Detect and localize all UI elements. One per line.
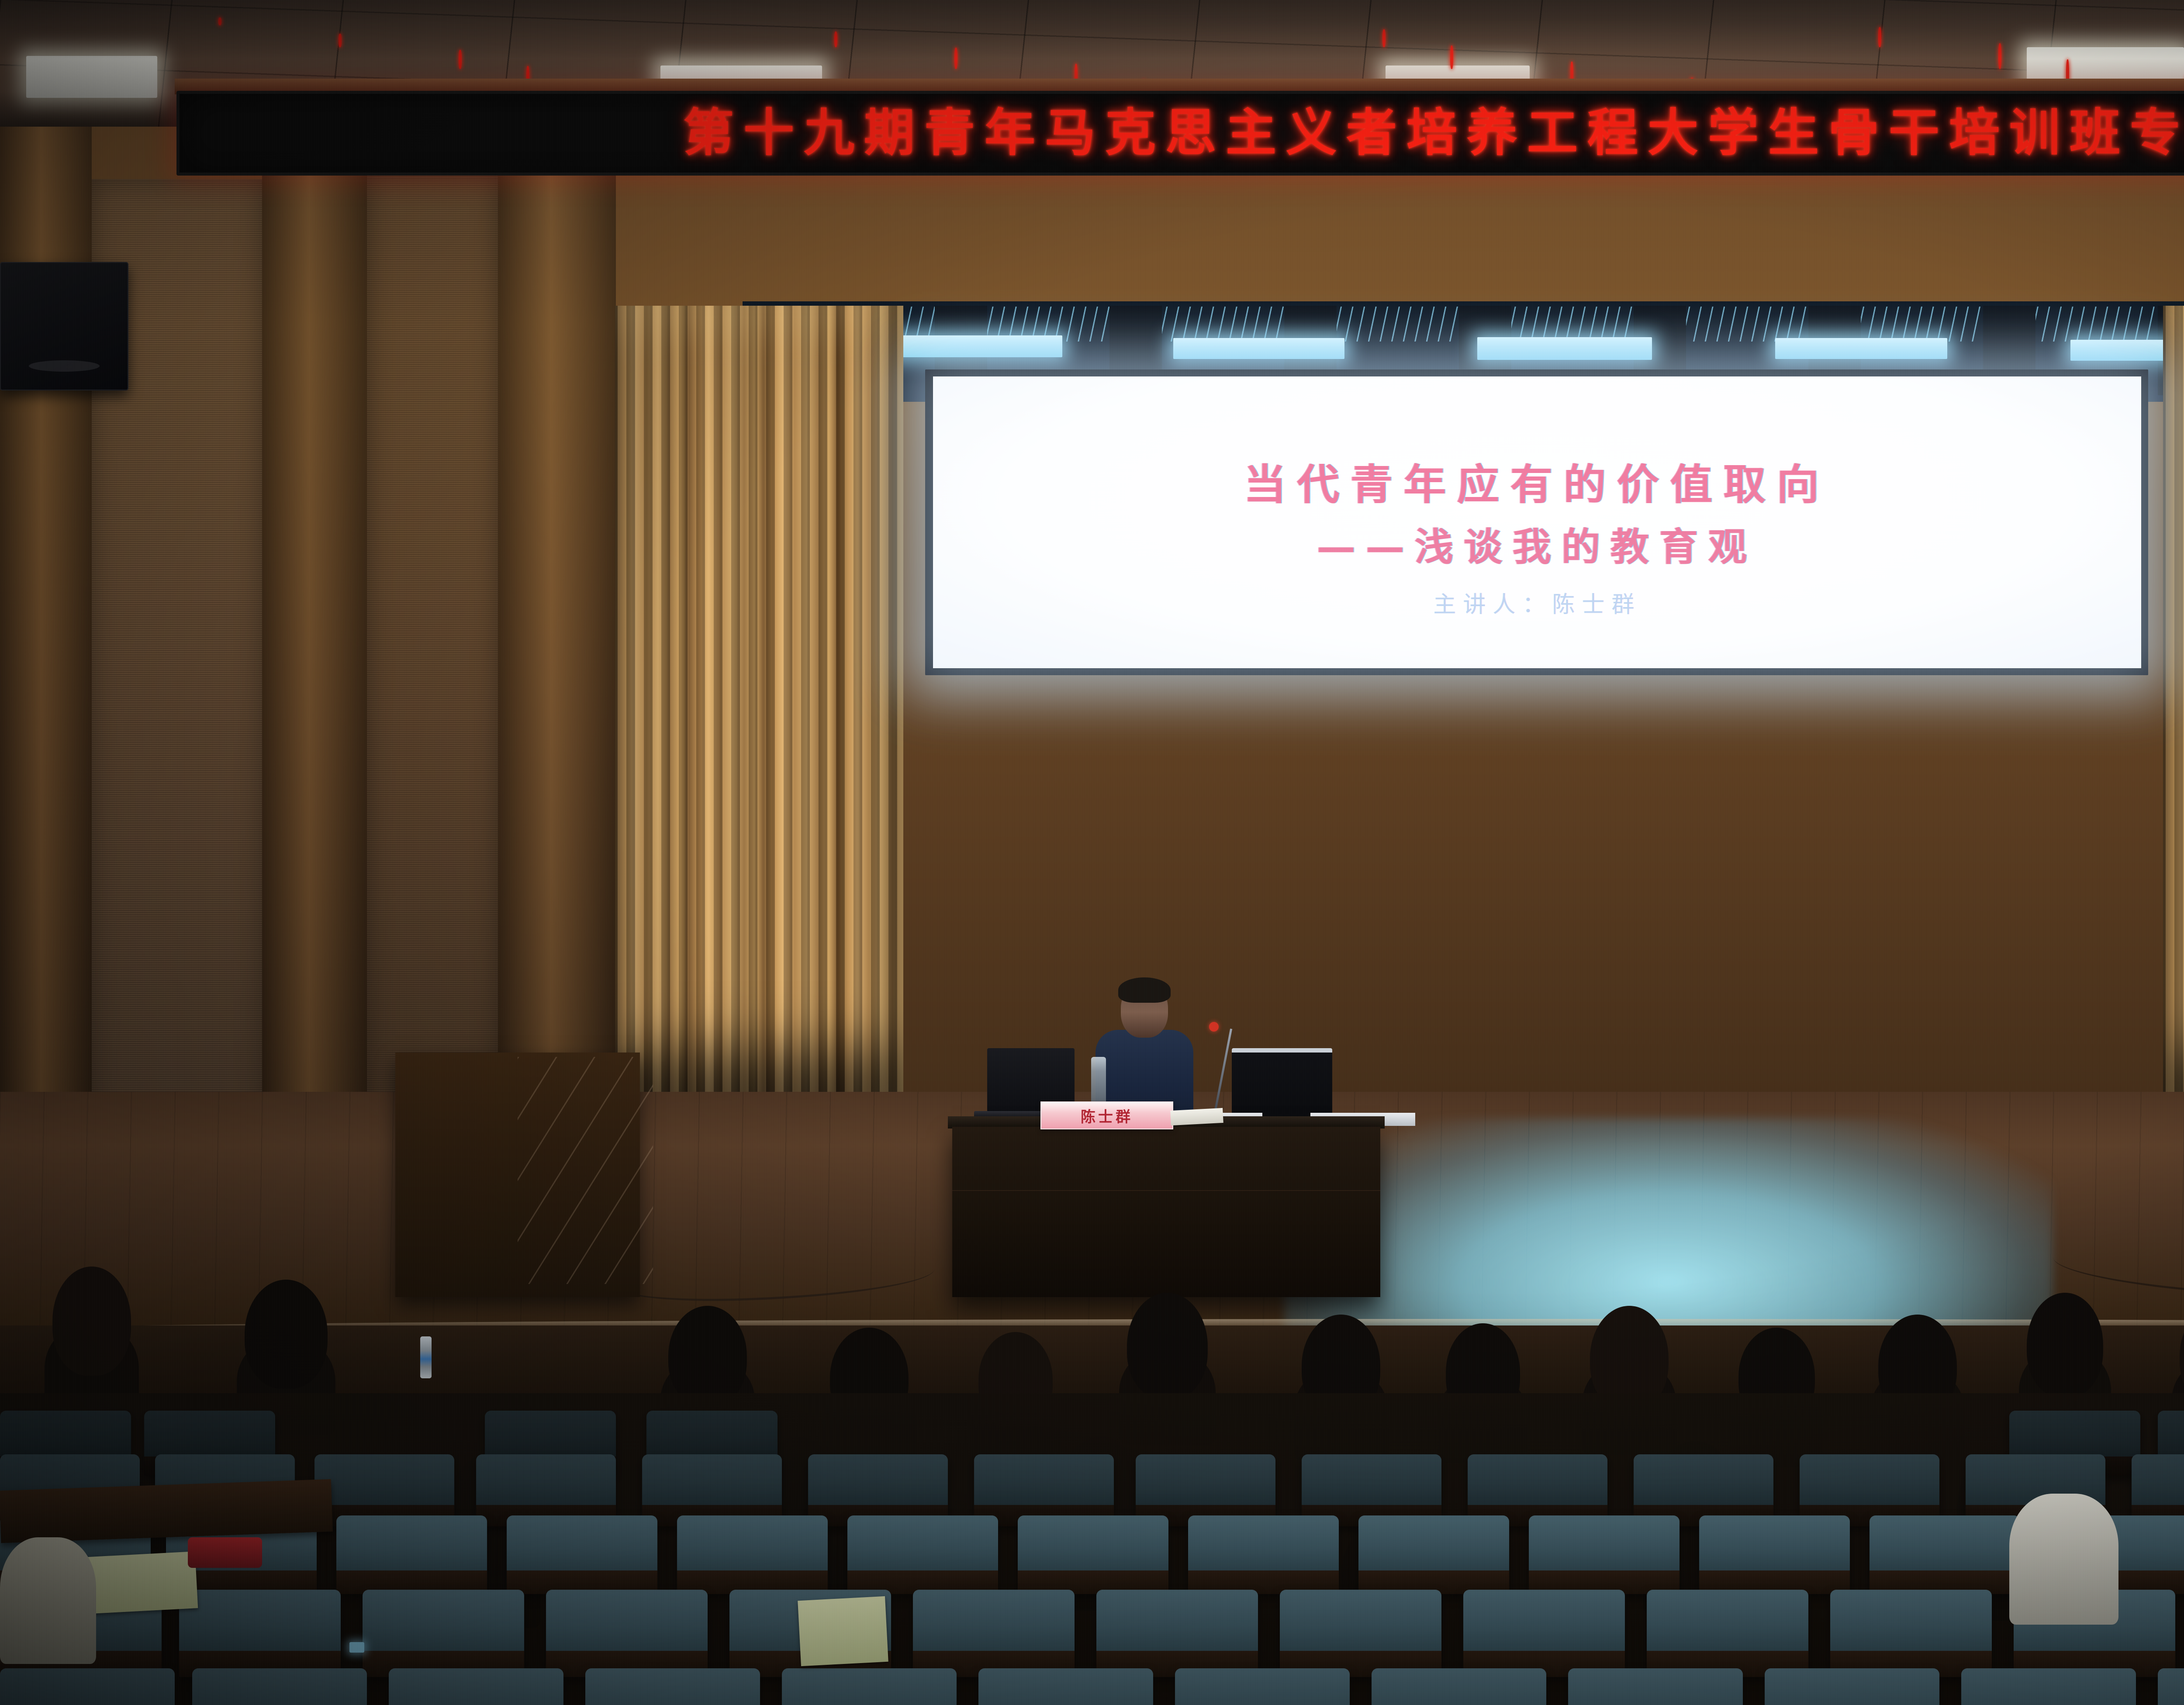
microphone-head [1209,1022,1219,1032]
stage-curtain-left [615,306,903,1105]
wood-pilaster [262,127,367,1218]
stage-curtain-right [2163,306,2184,1105]
led-banner: 第十九期青年马克思主义者培养工程大学生骨干培训班专题报告 [176,91,2184,176]
name-placard: 陈士群 [1040,1101,1173,1129]
auditorium-scene: 第十九期青年马克思主义者培养工程大学生骨干培训班专题报告 当代青年应有的价值取向… [0,0,2184,1705]
auditorium-seat [1647,1590,1808,1677]
auditorium-seat [389,1668,563,1705]
water-bottle [1091,1057,1106,1105]
auditorium-seat [1358,1515,1509,1594]
auditorium-seat [0,1668,175,1705]
audience-member-shirt [0,1537,96,1664]
auditorium-seat [847,1515,998,1594]
paper-stack [1170,1108,1223,1125]
projection-screen: 当代青年应有的价值取向 ——浅谈我的教育观 主讲人：陈士群 [933,376,2141,668]
auditorium-seat [1529,1515,1679,1594]
auditorium-seat [1568,1668,1743,1705]
audience-member-head [52,1267,131,1376]
auditorium-seat [336,1515,487,1594]
open-notebook [798,1596,888,1666]
projector-light-pool [1284,1118,2053,1336]
audience-member-head [2027,1293,2103,1398]
auditorium-seat [1372,1668,1546,1705]
auditorium-seat [1870,1515,2020,1594]
slide-title-line-2: ——浅谈我的教育观 [933,516,2141,572]
audience-member-head [668,1306,747,1406]
presenter-hair [1118,977,1171,1003]
lectern-side-panel [518,1057,653,1284]
auditorium-seat [677,1515,828,1594]
stage-light-bar [1775,338,1947,359]
wall-speaker-left [0,262,128,390]
auditorium-seat [585,1668,760,1705]
audience-water-bottle [420,1336,432,1378]
auditorium-seat [1018,1515,1168,1594]
slide-title-line-1: 当代青年应有的价值取向 [933,451,2141,511]
auditorium-seat [1961,1668,2136,1705]
auditorium-seat [978,1668,1153,1705]
auditorium-seat [1188,1515,1339,1594]
auditorium-seat [1175,1668,1350,1705]
auditorium-seat [782,1668,957,1705]
audience-member-head [1127,1293,1208,1400]
auditorium-seat [1280,1590,1441,1677]
auditorium-seat [1096,1590,1258,1677]
stage-light-bar [1173,338,1344,359]
auditorium-seat [2158,1668,2184,1705]
audience-member-shirt [2009,1494,2118,1625]
slide-presenter-line: 主讲人：陈士群 [933,586,2141,619]
auditorium-seat [192,1668,367,1705]
auditorium-seat [1699,1515,1850,1594]
audience-member-head [245,1280,328,1389]
auditorium-seat [913,1590,1075,1677]
stage-light-bar [1477,337,1652,360]
auditorium-seat [363,1590,524,1677]
name-placard-text: 陈士群 [1081,1105,1133,1126]
auditorium-seat [1765,1668,1939,1705]
led-banner-text: 第十九期青年马克思主义者培养工程大学生骨干培训班专题报告 [683,108,2184,159]
auditorium-seat [507,1515,657,1594]
acoustic-panel [367,175,498,1127]
auditorium-seat [179,1590,341,1677]
red-bag [188,1537,262,1568]
phone-screen-glow [349,1642,364,1653]
chair [1232,1048,1332,1122]
auditorium-seat [1830,1590,1992,1677]
auditorium-seat [546,1590,708,1677]
stage-light-bar [891,335,1062,357]
speaker-desk [952,1127,1380,1297]
auditorium-seat [1463,1590,1625,1677]
